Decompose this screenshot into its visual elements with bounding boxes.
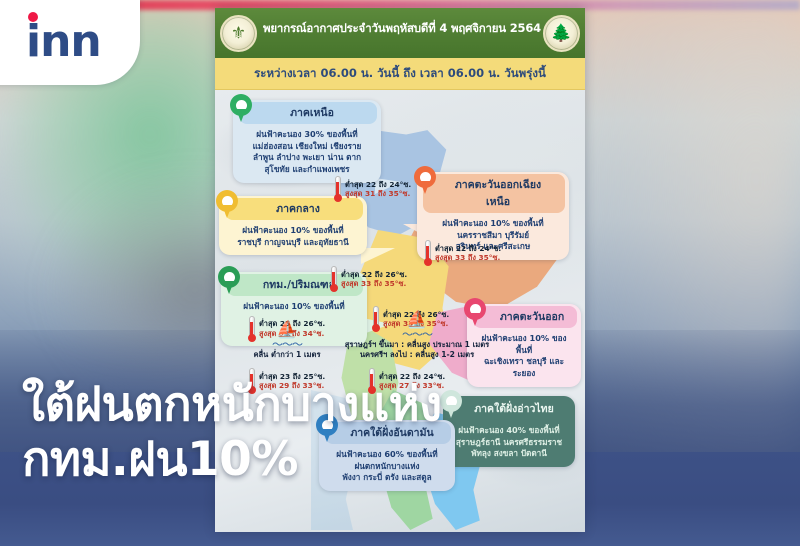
temp-northeast-high: สูงสุด 33 ถึง 35°ซ. bbox=[435, 253, 501, 262]
headline-line-1: ใต้ฝนตกหนักบางแห่ง bbox=[22, 378, 442, 433]
headline-line-2: กทม.ฝน10% bbox=[22, 433, 442, 488]
sailboat-icon: ⛵ bbox=[327, 312, 507, 329]
sea-note-andaman-text: คลื่น ต่ำกว่า 1 เมตร bbox=[239, 350, 335, 360]
callout-north-body: ฝนฟ้าคะนอง 30% ของพื้นที่ แม่ฮ่องสอน เชี… bbox=[241, 129, 373, 176]
map-pin-bangkok-icon bbox=[218, 266, 240, 296]
callout-south-gulf-title: ภาคใต้ฝั่งอ่าวไทย bbox=[449, 398, 571, 420]
sea-note-gulf-text: สุราษฎร์ฯ ขึ้นมา : คลื่นสูง ประมาณ 1 เมต… bbox=[327, 340, 507, 360]
temp-north-low: ต่ำสุด 22 ถึง 24°ซ. bbox=[345, 180, 411, 189]
wave-icon: 〜〜〜 bbox=[327, 329, 507, 340]
royal-seal-left-icon: ⚜ bbox=[220, 15, 257, 52]
sea-note-andaman: ⛵ 〜〜〜 คลื่น ต่ำกว่า 1 เมตร bbox=[239, 322, 335, 360]
sea-note-gulf: ⛵ 〜〜〜 สุราษฎร์ฯ ขึ้นมา : คลื่นสูง ประมาณ… bbox=[327, 312, 507, 360]
temp-northeast: ต่ำสุด 22 ถึง 24°ซ. สูงสุด 33 ถึง 35°ซ. bbox=[423, 240, 501, 266]
map-pin-central-icon bbox=[216, 190, 238, 220]
infographic-title: พยากรณ์อากาศประจำวันพฤหัสบดีที่ 4 พฤศจิก… bbox=[257, 22, 547, 35]
callout-northeast-title: ภาคตะวันออกเฉียงเหนือ bbox=[423, 174, 565, 213]
headline-overlay: ใต้ฝนตกหนักบางแห่ง กทม.ฝน10% bbox=[22, 378, 442, 487]
map-pin-north-icon bbox=[230, 94, 252, 124]
callout-bangkok-body: ฝนฟ้าคะนอง 10% ของพื้นที่ bbox=[229, 301, 359, 313]
brand-logo-card[interactable]: inn bbox=[0, 0, 140, 85]
callout-central-body: ฝนฟ้าคะนอง 10% ของพื้นที่ ราชบุรี กาญจนบ… bbox=[227, 225, 359, 248]
temp-central: ต่ำสุด 22 ถึง 26°ซ. สูงสุด 33 ถึง 35°ซ. bbox=[329, 266, 407, 292]
thermometer-icon bbox=[423, 240, 432, 266]
screenshot-root: inn ⚜ 🌲 พยากรณ์อากาศประจำวันพฤหัสบดีที่ … bbox=[0, 0, 800, 546]
infographic-subtitle: ระหว่างเวลา 06.00 น. วันนี้ ถึง เวลา 06.… bbox=[215, 58, 585, 90]
sailboat-icon: ⛵ bbox=[239, 322, 335, 339]
temp-central-high: สูงสุด 33 ถึง 35°ซ. bbox=[341, 279, 407, 288]
bubble-tail-central bbox=[361, 248, 395, 264]
callout-south-gulf-body: ฝนฟ้าคะนอง 40% ของพื้นที่ สุราษฎร์ธานี น… bbox=[451, 425, 567, 460]
callout-central[interactable]: ภาคกลาง ฝนฟ้าคะนอง 10% ของพื้นที่ ราชบุร… bbox=[219, 196, 367, 255]
wave-icon: 〜〜〜 bbox=[239, 339, 335, 350]
logo-text: inn bbox=[26, 20, 101, 64]
map-pin-northeast-icon bbox=[414, 166, 436, 196]
department-seal-right-icon: 🌲 bbox=[543, 15, 580, 52]
infographic-header: ⚜ 🌲 พยากรณ์อากาศประจำวันพฤหัสบดีที่ 4 พฤ… bbox=[215, 8, 585, 58]
temp-northeast-low: ต่ำสุด 22 ถึง 24°ซ. bbox=[435, 244, 501, 253]
thermometer-icon bbox=[333, 176, 342, 202]
thermometer-icon bbox=[329, 266, 338, 292]
temp-north-high: สูงสุด 31 ถึง 35°ซ. bbox=[345, 189, 411, 198]
temp-north: ต่ำสุด 22 ถึง 24°ซ. สูงสุด 31 ถึง 35°ซ. bbox=[333, 176, 411, 202]
callout-north[interactable]: ภาคเหนือ ฝนฟ้าคะนอง 30% ของพื้นที่ แม่ฮ่… bbox=[233, 100, 381, 183]
temp-central-low: ต่ำสุด 22 ถึง 26°ซ. bbox=[341, 270, 407, 279]
map-pin-south-gulf-icon bbox=[440, 390, 462, 420]
callout-south-gulf[interactable]: ภาคใต้ฝั่งอ่าวไทย ฝนฟ้าคะนอง 40% ของพื้น… bbox=[443, 396, 575, 467]
seal-right-glyph: 🌲 bbox=[545, 25, 578, 42]
callout-north-title: ภาคเหนือ bbox=[239, 102, 377, 124]
seal-left-glyph: ⚜ bbox=[222, 25, 255, 42]
